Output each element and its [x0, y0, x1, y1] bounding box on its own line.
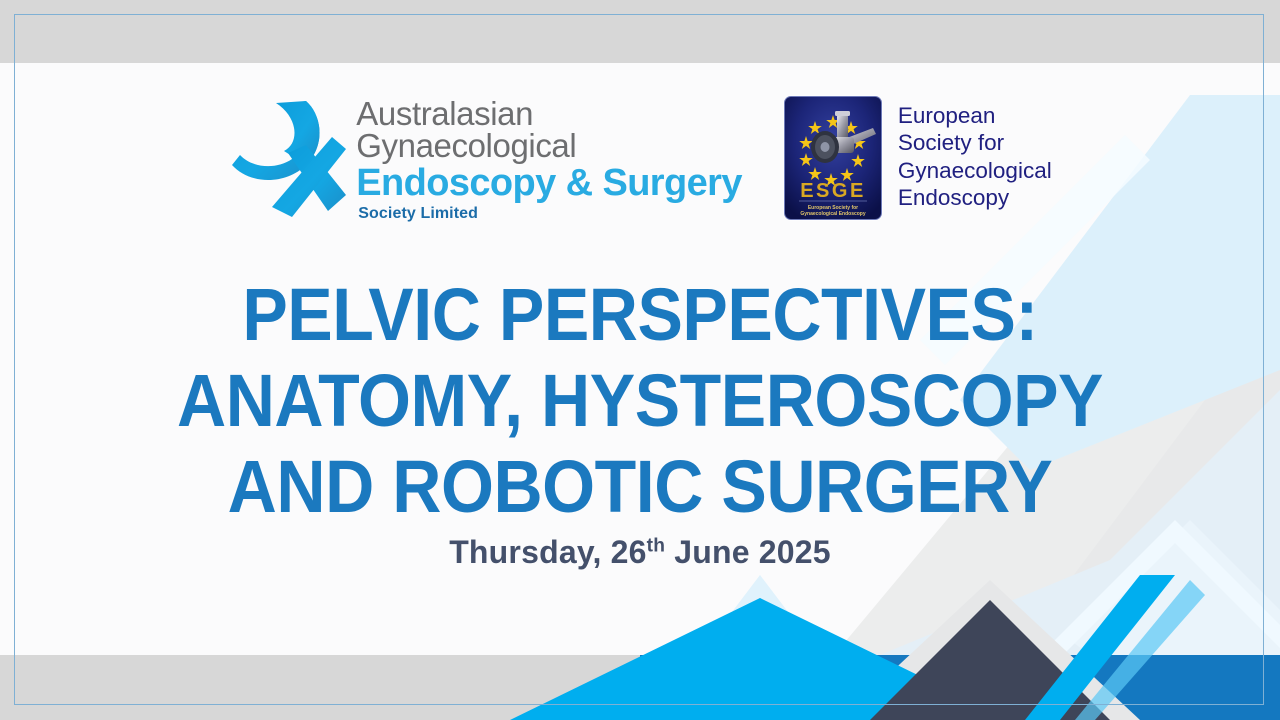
esge-line-1: European [898, 102, 1052, 129]
title-line-2: ANATOMY, HYSTEROSCOPY [51, 358, 1229, 444]
logo-row: Australasian Gynaecological Endoscopy & … [0, 96, 1280, 236]
esge-logo: ESGE European Society for Gynaecological… [784, 96, 1052, 220]
ages-line-3: Endoscopy & Surgery [356, 164, 742, 203]
ages-logo-wordmark: Australasian Gynaecological Endoscopy & … [356, 98, 742, 223]
ages-line-2: Gynaecological [356, 130, 742, 162]
ages-logo-mark-icon [228, 99, 350, 221]
ages-line-1: Australasian [356, 98, 742, 130]
ages-line-4: Society Limited [358, 205, 742, 223]
esge-badge-icon: ESGE European Society for Gynaecological… [784, 96, 882, 220]
esge-line-3: Gynaecological [898, 157, 1052, 184]
date-ordinal: th [647, 535, 666, 556]
esge-line-4: Endoscopy [898, 184, 1052, 211]
esge-acronym-text: ESGE [800, 180, 866, 202]
title-line-1: PELVIC PERSPECTIVES: [51, 272, 1229, 358]
presentation-title-slide: Australasian Gynaecological Endoscopy & … [0, 0, 1280, 720]
esge-badge-art: ESGE European Society for Gynaecological… [785, 97, 881, 219]
ages-logo: Australasian Gynaecological Endoscopy & … [228, 96, 742, 223]
esge-line-2: Society for [898, 129, 1052, 156]
esge-logo-wordmark: European Society for Gynaecological Endo… [898, 102, 1052, 212]
slide-title: PELVIC PERSPECTIVES: ANATOMY, HYSTEROSCO… [51, 272, 1229, 530]
date-suffix: June 2025 [665, 534, 831, 570]
title-line-3: AND ROBOTIC SURGERY [51, 444, 1229, 530]
slide-date: Thursday, 26th June 2025 [0, 534, 1280, 571]
date-prefix: Thursday, 26 [449, 534, 646, 570]
esge-badge-sub-2: Gynaecological Endoscopy [800, 211, 866, 217]
